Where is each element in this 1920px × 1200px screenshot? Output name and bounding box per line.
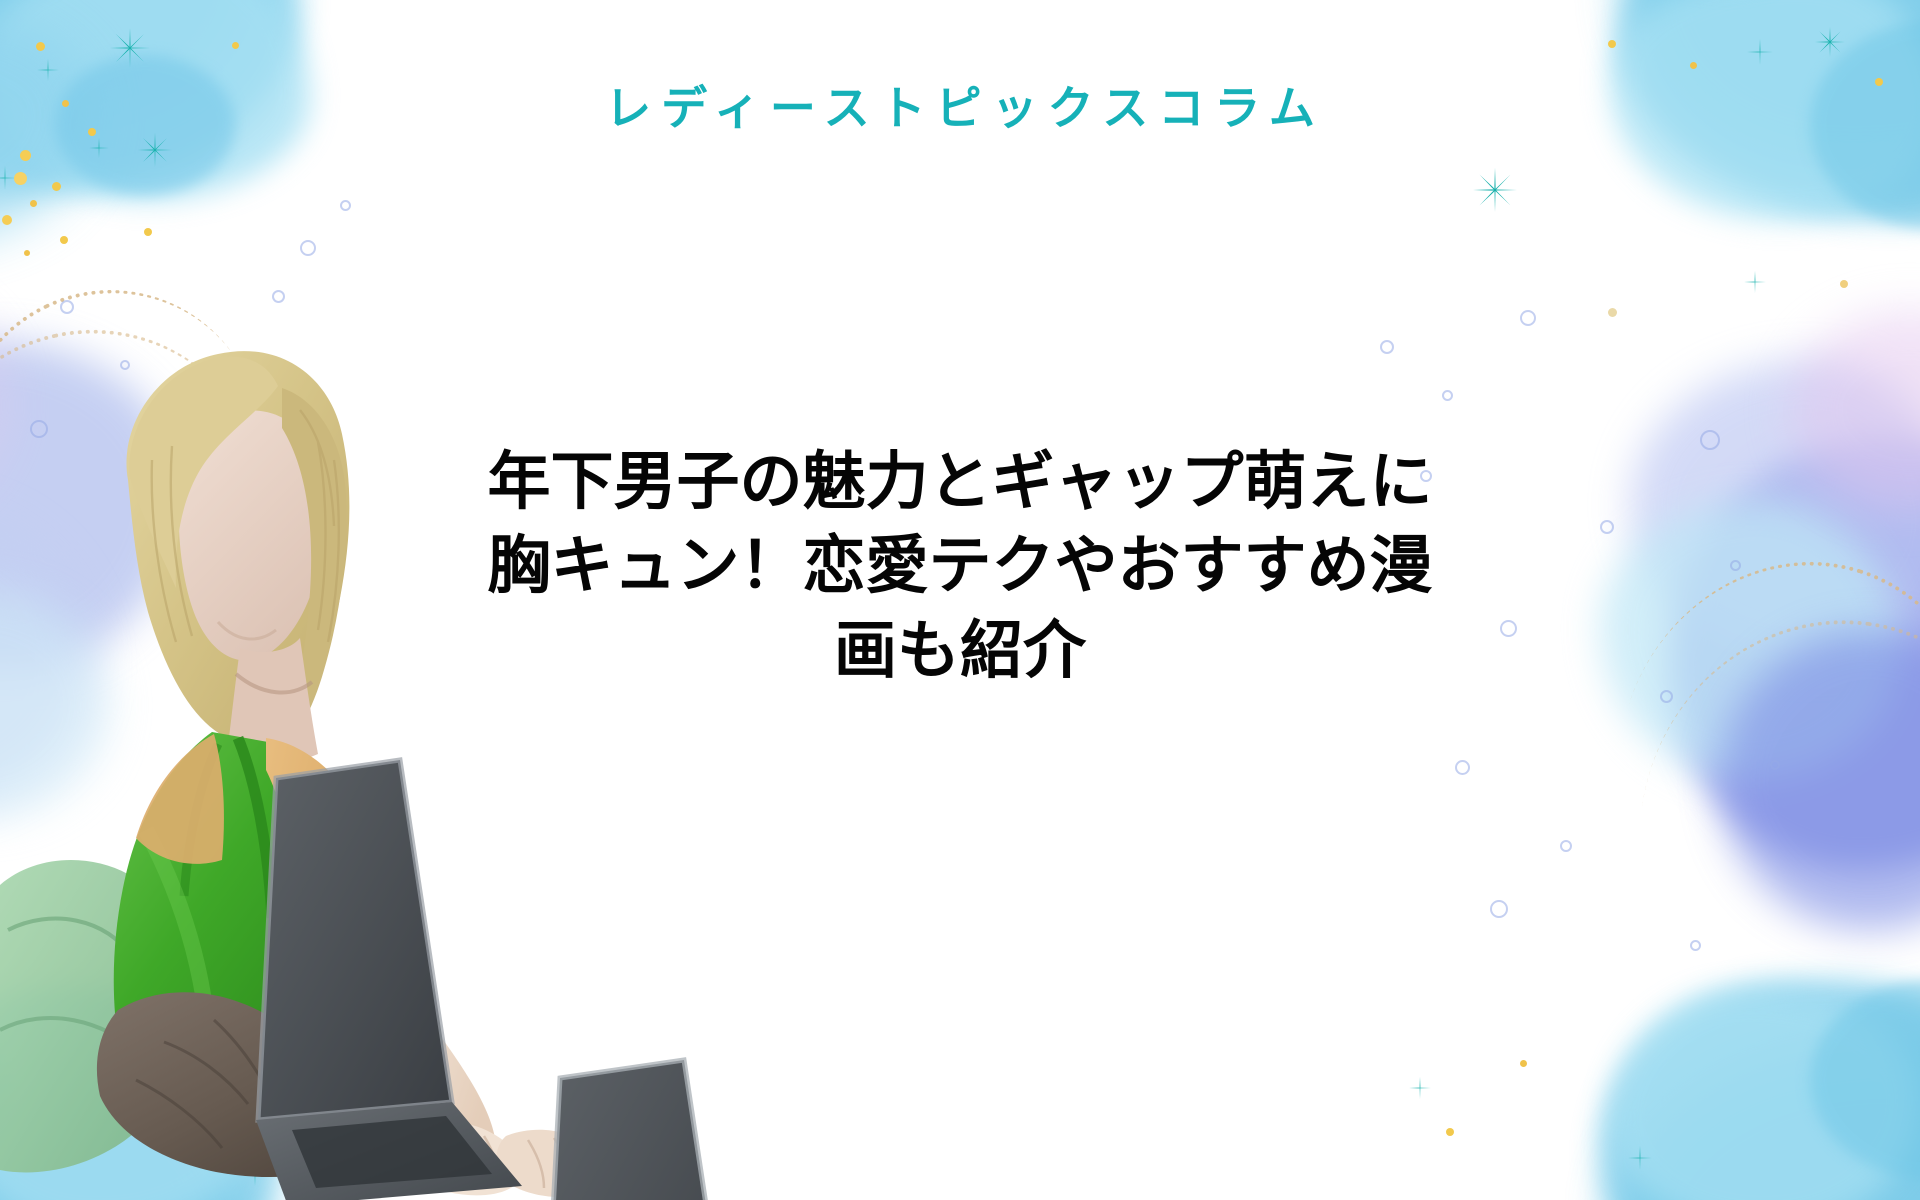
- bubble: [1560, 840, 1572, 852]
- bubble: [1520, 310, 1536, 326]
- confetti-dot: [24, 250, 30, 256]
- bubble: [60, 300, 74, 314]
- confetti-dot: [1608, 40, 1616, 48]
- watercolor-blob-bottom-right: [1400, 810, 1920, 1200]
- confetti-dot: [1840, 280, 1848, 288]
- poster-canvas: レディーストピックスコラム 年下男子の魅力とギャップ萌えに 胸キュン！恋愛テクや…: [0, 0, 1920, 1200]
- confetti-dot: [144, 228, 152, 236]
- confetti-dot: [14, 172, 27, 185]
- watercolor-blob-top-right: [1390, 0, 1920, 410]
- confetti-dot: [60, 236, 68, 244]
- shoulder-left: [136, 734, 224, 864]
- confetti-dot: [1446, 1128, 1454, 1136]
- page-header-title: レディーストピックスコラム: [0, 72, 1920, 138]
- page-title-line-2: 胸キュン！恋愛テクやおすすめ漫: [0, 524, 1920, 608]
- laptop-screen-2: [542, 1060, 736, 1200]
- bubble: [340, 200, 351, 211]
- laptop-screen: [258, 760, 452, 1120]
- bubble: [1690, 940, 1701, 951]
- confetti-dot: [2, 215, 12, 225]
- confetti-dot: [52, 182, 61, 191]
- bubble: [1490, 900, 1508, 918]
- laptop-placed: [540, 1060, 760, 1200]
- confetti-dot: [30, 200, 37, 207]
- confetti-dot: [1690, 62, 1697, 69]
- bubble: [272, 290, 285, 303]
- bubble: [1380, 340, 1394, 354]
- page-title-line-3: 画も紹介: [0, 609, 1920, 693]
- bubble: [1442, 390, 1453, 401]
- confetti-dot: [20, 150, 31, 161]
- confetti-dot: [1608, 308, 1617, 317]
- bubble: [300, 240, 316, 256]
- page-title: 年下男子の魅力とギャップ萌えに 胸キュン！恋愛テクやおすすめ漫 画も紹介: [0, 440, 1920, 693]
- confetti-dot: [36, 42, 45, 51]
- page-title-line-1: 年下男子の魅力とギャップ萌えに: [0, 440, 1920, 524]
- confetti-dot: [232, 42, 239, 49]
- watercolor-blob-top-left: [0, 0, 470, 360]
- bubble: [1770, 760, 1780, 770]
- bubble: [1455, 760, 1470, 775]
- confetti-dot: [1520, 1060, 1527, 1067]
